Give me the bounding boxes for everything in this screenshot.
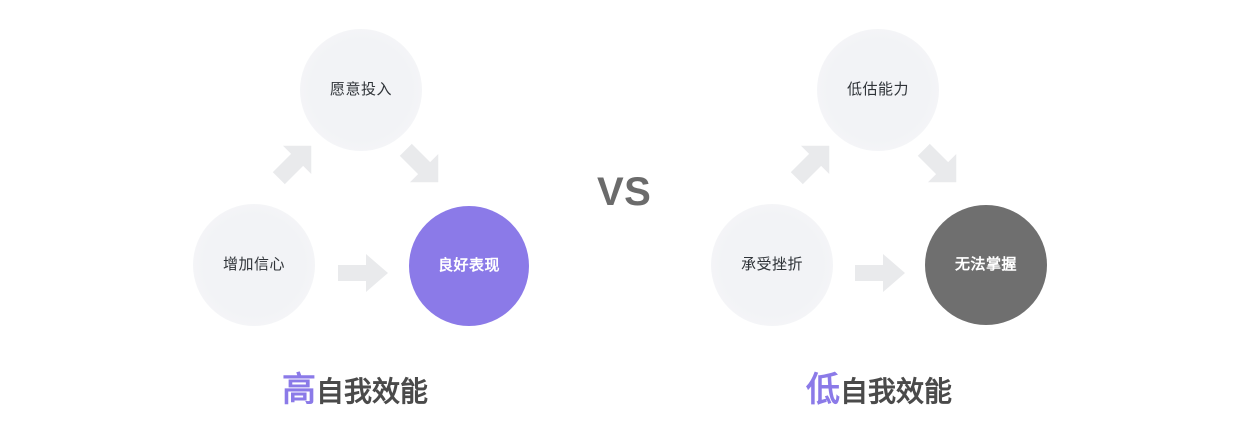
node-increase-confidence-label: 增加信心 xyxy=(221,254,287,277)
caption-rest-high: 自我效能 xyxy=(316,376,428,407)
vs-divider-label: VS xyxy=(597,172,651,212)
caption-accent-high: 高 xyxy=(282,371,316,409)
arrow-up-right-icon xyxy=(783,132,844,193)
arrow-up-right-icon xyxy=(265,132,326,193)
node-cannot-master: 无法掌握 xyxy=(925,205,1047,325)
arrow-right-icon xyxy=(338,254,388,292)
caption-accent-low: 低 xyxy=(806,371,840,409)
node-endure-setback-label: 承受挫折 xyxy=(739,254,805,277)
arrow-down-right-icon xyxy=(392,136,453,197)
diagram-canvas: 愿意投入 增加信心 良好表现 高自我效能 VS xyxy=(0,0,1242,429)
node-underestimate-ability-label: 低估能力 xyxy=(845,79,911,102)
caption-low-self-efficacy: 低自我效能 xyxy=(806,373,952,407)
node-willing-to-invest-label: 愿意投入 xyxy=(328,79,394,102)
arrow-right-icon xyxy=(855,254,905,292)
node-willing-to-invest: 愿意投入 xyxy=(300,29,422,151)
caption-rest-low: 自我效能 xyxy=(840,376,952,407)
node-underestimate-ability: 低估能力 xyxy=(817,29,939,151)
caption-high-self-efficacy: 高自我效能 xyxy=(282,373,428,407)
arrow-down-right-icon xyxy=(910,136,971,197)
node-cannot-master-label: 无法掌握 xyxy=(953,254,1019,277)
node-endure-setback: 承受挫折 xyxy=(711,204,833,326)
node-good-performance: 良好表现 xyxy=(409,206,529,326)
node-good-performance-label: 良好表现 xyxy=(436,255,502,278)
node-increase-confidence: 增加信心 xyxy=(193,204,315,326)
